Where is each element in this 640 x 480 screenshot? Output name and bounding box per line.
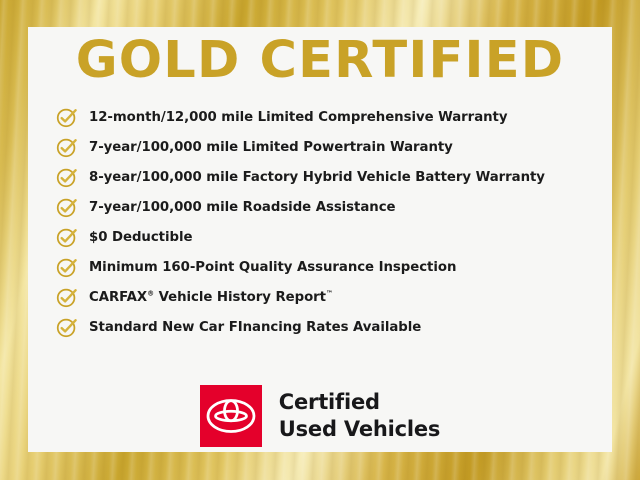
registered-mark: ® xyxy=(147,289,154,297)
trademark-mark: ™ xyxy=(326,289,333,297)
toyota-certified-used-vehicles-logo: Certified Used Vehicles xyxy=(28,385,612,447)
list-item: 8-year/100,000 mile Factory Hybrid Vehic… xyxy=(56,162,596,192)
list-item: 7-year/100,000 mile Roadside Assistance xyxy=(56,192,596,222)
check-circle-icon xyxy=(56,136,78,158)
list-item: Minimum 160-Point Quality Assurance Insp… xyxy=(56,252,596,282)
check-circle-icon xyxy=(56,226,78,248)
certified-used-vehicles-wordmark: Certified Used Vehicles xyxy=(279,389,440,443)
list-item: $0 Deductible xyxy=(56,222,596,252)
benefits-list: 12-month/12,000 mile Limited Comprehensi… xyxy=(56,102,596,342)
page-title: GOLD CERTIFIED xyxy=(28,35,612,86)
benefit-label: 7-year/100,000 mile Roadside Assistance xyxy=(89,200,396,215)
benefit-label: Minimum 160-Point Quality Assurance Insp… xyxy=(89,260,456,275)
benefit-label: $0 Deductible xyxy=(89,230,192,245)
benefit-label: 7-year/100,000 mile Limited Powertrain W… xyxy=(89,140,453,155)
check-circle-icon xyxy=(56,196,78,218)
carfax-rest: Vehicle History Report xyxy=(154,290,326,305)
check-circle-icon xyxy=(56,166,78,188)
list-item: Standard New Car FInancing Rates Availab… xyxy=(56,312,596,342)
benefit-label: 12-month/12,000 mile Limited Comprehensi… xyxy=(89,110,507,125)
benefit-label: 8-year/100,000 mile Factory Hybrid Vehic… xyxy=(89,170,545,185)
wordmark-line-2: Used Vehicles xyxy=(279,416,440,443)
check-circle-icon xyxy=(56,316,78,338)
toyota-emblem-icon xyxy=(206,398,256,434)
list-item: 12-month/12,000 mile Limited Comprehensi… xyxy=(56,102,596,132)
toyota-logo-tile xyxy=(200,385,262,447)
list-item: CARFAX® Vehicle History Report™ xyxy=(56,282,596,312)
gold-certified-certificate: GOLD CERTIFIED 12-month/12,000 mile Limi… xyxy=(0,0,640,480)
check-circle-icon xyxy=(56,106,78,128)
list-item: 7-year/100,000 mile Limited Powertrain W… xyxy=(56,132,596,162)
benefit-label: CARFAX® Vehicle History Report™ xyxy=(89,290,333,305)
benefit-label: Standard New Car FInancing Rates Availab… xyxy=(89,320,421,335)
check-circle-icon xyxy=(56,256,78,278)
check-circle-icon xyxy=(56,286,78,308)
carfax-brand: CARFAX xyxy=(89,290,147,305)
certificate-card: GOLD CERTIFIED 12-month/12,000 mile Limi… xyxy=(28,27,612,452)
wordmark-line-1: Certified xyxy=(279,389,440,416)
